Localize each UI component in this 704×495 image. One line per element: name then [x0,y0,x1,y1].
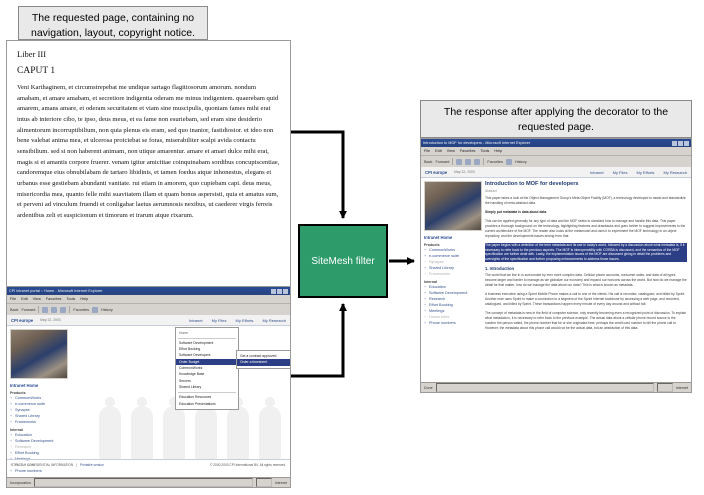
site-sidebar: Intranet Home Products CommonWorks e-com… [7,326,68,475]
sidebar-item-frameworks-response[interactable]: Frameworks [424,272,480,278]
panel-response-browser: Introduction to MOF for developers - Mic… [420,138,692,393]
toolbar-back-button-response[interactable]: Back [424,160,432,164]
site-topbar: CPI europe May 22, 2003 Intranet My File… [7,315,290,326]
sidebar-item-phone-numbers-response[interactable]: Phone numbers [424,321,480,327]
caption-requested-page: The requested page, containing no naviga… [18,6,208,40]
panel-decorator-browser: CPI intranet portal :: Home - Microsoft … [6,286,291,488]
nav-intranet-response[interactable]: Intranet [590,170,604,175]
hero-image-response [424,181,482,231]
stop-icon[interactable] [42,307,48,313]
footer-printable-link[interactable]: Printable version [80,463,104,467]
sidebar-group-products-response: Products [424,243,480,247]
home-icon[interactable] [60,307,66,313]
article-section-heading: 1. Introduction [485,266,687,271]
site-brand: CPI europe [11,318,33,323]
footer-confidential: STRICTLY CONFIDENTIAL INFORMATION [11,463,73,467]
article-highlighted-paragraph: The paper begins with a definition of th… [485,243,687,263]
media-icon[interactable] [92,307,98,313]
status-spacer-pane-response [657,383,673,392]
menu-item-shared-library[interactable]: Shared Library [176,384,238,390]
site-body: Intranet Home Products CommonWorks e-com… [7,326,290,475]
decorator-window-title: CPI intranet portal :: Home - Microsoft … [9,289,271,293]
status-progress-pane-response [436,383,654,392]
site-body-response: Intranet Home Products CommonWorks e-com… [421,178,691,335]
toolbar-divider [38,306,39,313]
document-book-title: Liber III [17,49,280,59]
toolbar-favorites-button[interactable]: Favorites [73,308,89,312]
nav-my-files-response[interactable]: My Files [613,170,628,175]
sitemesh-filter-label: SiteMesh filter [311,256,374,267]
response-window-titlebar: Introduction to MOF for developers - Mic… [421,139,691,147]
menu-item-home[interactable]: Home [176,330,238,336]
decorator-window-titlebar: CPI intranet portal :: Home - Microsoft … [7,287,290,295]
nav-my-research[interactable]: My Research [262,318,286,323]
article-byline: Abstract [485,189,687,193]
sitemesh-filter-box: SiteMesh filter [298,224,388,298]
status-left-text: Incorporation [10,481,31,485]
sidebar-heading: Intranet Home [10,383,66,388]
nav-my-research-response[interactable]: My Research [663,170,687,175]
sidebar-group-products: Products [10,391,66,395]
sidebar-group-internal-response: Internal [424,280,480,284]
sidebar-item-phone-numbers[interactable]: Phone numbers [10,469,66,475]
status-zone-text-response: Internet [676,386,688,390]
article-content: Introduction to MOF for developers Abstr… [482,178,691,335]
refresh-icon-response[interactable] [465,159,471,165]
document-chapter-title: CAPUT 1 [17,66,280,76]
site-nav[interactable]: Intranet My Files My Efforts My Research [189,318,286,323]
menu-file[interactable]: File [10,297,16,301]
site-dropdown-menu[interactable]: Home Software Development Effort Booking… [175,327,239,410]
toolbar-favorites-button-response[interactable]: Favorites [487,160,503,164]
home-icon-response[interactable] [474,159,480,165]
footer-separator: | [73,463,80,467]
status-progress-pane [34,478,253,487]
response-window-title: Introduction to MOF for developers - Mic… [423,141,672,145]
sidebar-item-frameworks[interactable]: Frameworks [10,420,66,426]
nav-my-efforts-response[interactable]: My Efforts [637,170,655,175]
response-menubar[interactable]: File Edit View Favorites Tools Help [421,147,691,156]
media-icon-response[interactable] [506,159,512,165]
article-paragraph-3: This can be applied generally for any ty… [485,219,687,239]
decorator-menubar[interactable]: File Edit View Favorites Tools Help [7,295,290,304]
menu-help[interactable]: Help [80,297,88,301]
decorator-statusbar: Incorporation Internet [7,477,290,487]
site-date: May 22, 2003 [40,318,61,322]
site-sidebar-response: Intranet Home Products CommonWorks e-com… [421,178,482,335]
footer-copyright: © 2000-2003 CPI International BV. All ri… [210,463,286,467]
site-topbar-response: CPI europe May 22, 2003 Intranet My File… [421,167,691,178]
menu-tools-response[interactable]: Tools [480,149,489,153]
site-footer: STRICTLY CONFIDENTIAL INFORMATION | Prin… [7,459,290,469]
article-lead-line: Simply put metadata is data about data. [485,210,687,215]
toolbar-back-button[interactable]: Back [10,308,18,312]
toolbar-history-button-response[interactable]: History [515,160,527,164]
caption-response-page: The response after applying the decorato… [420,100,692,138]
arrow-requested-to-filter [291,132,343,218]
toolbar-divider-response [452,158,453,165]
window-controls-response[interactable] [672,141,689,146]
stop-icon-response[interactable] [456,159,462,165]
toolbar-divider-2 [69,306,70,313]
arrow-decorator-to-filter [291,304,343,376]
menu-edit-response[interactable]: Edit [435,149,442,153]
site-date-response: May 22, 2003 [454,170,475,174]
hero-image [10,329,68,379]
article-paragraph-7: The concept of metadata is new in the fi… [485,311,687,331]
decorator-viewport: CPI europe May 22, 2003 Intranet My File… [7,315,290,478]
menu-help-response[interactable]: Help [494,149,502,153]
article-title: Introduction to MOF for developers [485,181,687,187]
toolbar-divider-response-2 [483,158,484,165]
panel-requested-page: Liber III CAPUT 1 Veni Karthaginem, et c… [6,40,291,290]
document-body-text: Veni Karthaginem, et circumstrepebat me … [17,83,280,222]
response-statusbar: Done Internet [421,382,691,392]
nav-my-efforts[interactable]: My Efforts [236,318,254,323]
status-spacer-pane [256,478,272,487]
menu-favorites-response[interactable]: Favorites [460,149,476,153]
submenu-item-order-timesheet[interactable]: Order a timesheet [237,359,290,365]
site-nav-response[interactable]: Intranet My Files My Efforts My Research [590,170,687,175]
toolbar-history-button[interactable]: History [101,308,113,312]
window-controls[interactable] [271,289,288,294]
article-paragraph-6: A business executive using a Sprint Mobi… [485,292,687,307]
menu-view-response[interactable]: View [447,149,455,153]
response-viewport: CPI europe May 22, 2003 Intranet My File… [421,167,691,383]
nav-intranet[interactable]: Intranet [189,318,203,323]
menu-item-education-presentations[interactable]: Education Presentations [176,401,238,407]
status-left-text-response: Done [424,386,433,390]
article-paragraph-5: The world that we live in is surrounded … [485,273,687,288]
nav-my-files[interactable]: My Files [212,318,227,323]
menu-divider-2 [178,392,236,393]
article-paragraph-1: This paper takes a look at the Object Ma… [485,196,687,206]
menu-edit[interactable]: Edit [21,297,28,301]
status-zone-text: Internet [275,481,287,485]
refresh-icon[interactable] [51,307,57,313]
menu-view[interactable]: View [33,297,41,301]
toolbar-forward-button-response[interactable]: Forward [435,160,449,164]
menu-file-response[interactable]: File [424,149,430,153]
menu-divider [178,338,236,339]
sidebar-heading-response: Intranet Home [424,235,480,240]
sidebar-group-internal: Internal [10,428,66,432]
menu-favorites[interactable]: Favorites [46,297,62,301]
toolbar-forward-button[interactable]: Forward [21,308,35,312]
site-submenu[interactable]: Get a contract approved Order a timeshee… [236,350,290,369]
menu-tools[interactable]: Tools [66,297,75,301]
site-brand-response: CPI europe [425,170,447,175]
